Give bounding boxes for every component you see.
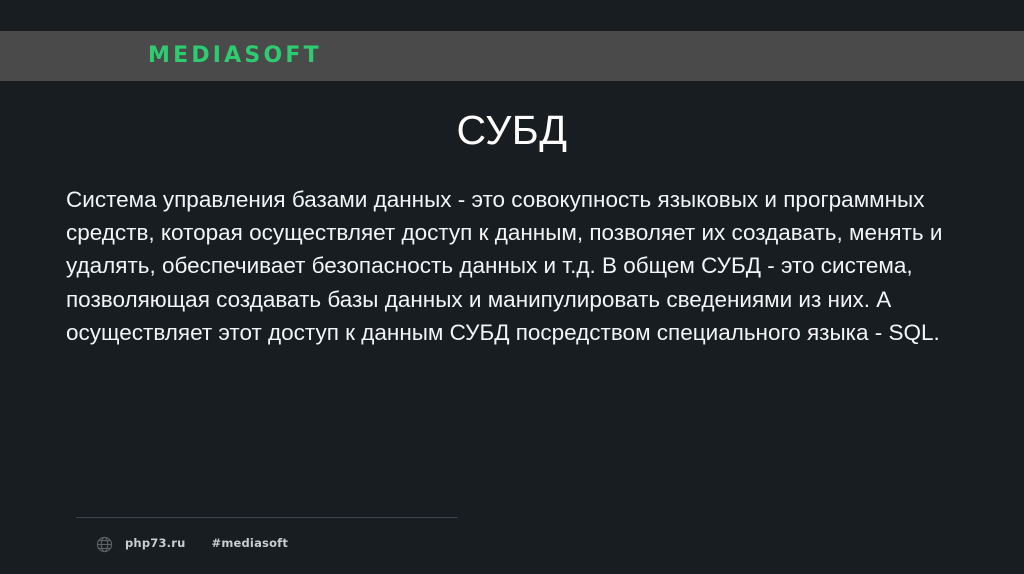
brand-logo: MEDIASOFT <box>148 45 322 67</box>
footer-site-label: php73.ru <box>125 538 185 550</box>
body-paragraph: Система управления базами данных - это с… <box>66 183 974 349</box>
page-title: СУБД <box>0 108 1024 153</box>
globe-icon <box>96 536 113 553</box>
presentation-slide: MEDIASOFT СУБД Система управления базами… <box>0 0 1024 574</box>
header-bar: MEDIASOFT <box>0 31 1024 81</box>
footer-divider <box>76 517 458 518</box>
footer: php73.ru #mediasoft <box>96 533 288 555</box>
footer-hashtag-label: #mediasoft <box>211 538 288 550</box>
